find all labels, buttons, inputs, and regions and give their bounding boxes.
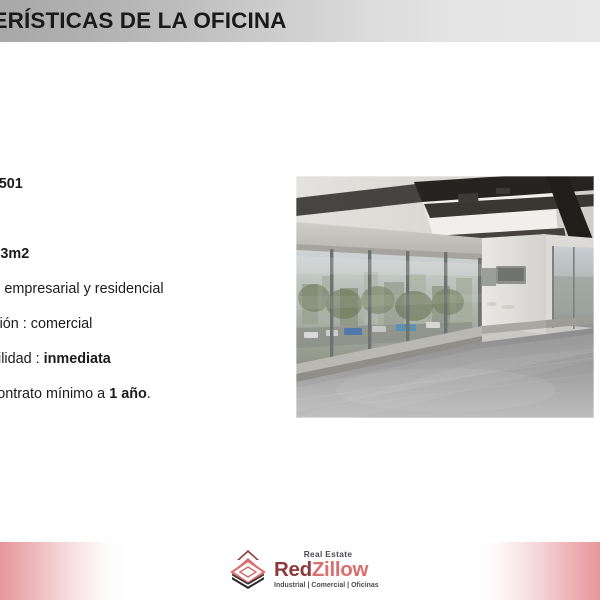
feature-value-plazo-strong: 1 año [109, 386, 147, 402]
office-interior-photo [296, 176, 594, 418]
feature-value-oficina: 501 [0, 176, 23, 192]
feature-row-piso: Piso : 5 [0, 211, 302, 228]
feature-value-area: 163m2 [0, 246, 29, 262]
page-title: ACTERÍSTICAS DE LA OFICINA [0, 6, 406, 36]
feature-value-plazo-prefix: contrato mínimo a [0, 386, 109, 402]
feature-row-entorno: Entorno : empresarial y residencial [0, 281, 302, 298]
feature-value-zonificacion: comercial [31, 316, 93, 332]
logo-wordmark: RedZillow [274, 559, 388, 581]
feature-row-oficina: Oficina : 501 [0, 176, 302, 193]
feature-separator: : [36, 351, 40, 367]
feature-separator: : [23, 316, 27, 332]
feature-value-entorno: empresarial y residencial [4, 281, 163, 297]
footer-accent-left [0, 542, 128, 600]
feature-label-zonificacion: Zonificación [0, 316, 19, 332]
logo-text-block: Real Estate RedZillow Industrial | Comer… [274, 548, 388, 590]
feature-value-plazo-suffix: . [147, 386, 151, 402]
slide-root: ACTERÍSTICAS DE LA OFICINA Oficina : 501… [0, 0, 600, 600]
feature-row-plazo: Plazo : contrato mínimo a 1 año. [0, 386, 302, 403]
redzillow-logo: Real Estate RedZillow Industrial | Comer… [228, 543, 388, 595]
header-band: ACTERÍSTICAS DE LA OFICINA [0, 0, 600, 42]
logo-tagline-bottom: Industrial | Comercial | Oficinas [274, 581, 388, 590]
feature-value-disponibilidad: inmediata [44, 351, 111, 367]
feature-row-area: Área : 163m2 [0, 246, 302, 263]
footer-accent-right [472, 542, 600, 600]
feature-row-disponibilidad: Disponibilidad : inmediata [0, 351, 302, 368]
stacked-diamonds-icon [228, 548, 268, 590]
feature-label-disponibilidad: Disponibilidad [0, 351, 32, 367]
office-features-list: Oficina : 501 Piso : 5 Área : 163m2 Ento… [0, 176, 302, 421]
logo-word-red: Red [274, 558, 312, 581]
feature-row-zonificacion: Zonificación : comercial [0, 316, 302, 333]
logo-word-zillow: Zillow [312, 558, 368, 581]
